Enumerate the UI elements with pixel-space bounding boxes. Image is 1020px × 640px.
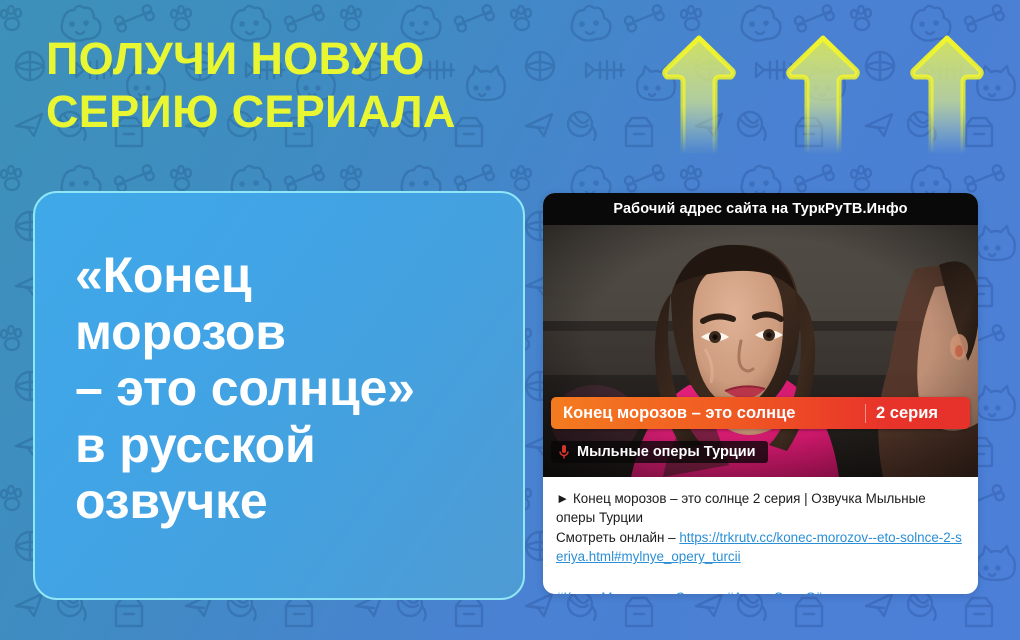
play-glyph: ► [556, 491, 569, 506]
video-thumbnail[interactable]: Конец морозов – это солнце 2 серия Мыльн… [543, 225, 978, 477]
watch-online-line: Смотреть онлайн – https://trkrutv.cc/kon… [556, 528, 965, 566]
series-title: «Конец морозов – это солнце» в русской о… [75, 247, 505, 530]
arrow-up-icon [665, 38, 734, 154]
episode-title-bar: Конец морозов – это солнце 2 серия [551, 397, 970, 429]
post-title-text: Конец морозов – это солнце 2 серия | Озв… [556, 491, 926, 525]
post-title: ► Конец морозов – это солнце 2 серия | О… [556, 489, 965, 527]
channel-badge: Мыльные оперы Турции [551, 441, 768, 463]
episode-number: 2 серия [866, 404, 970, 423]
site-address-banner: Рабочий адрес сайта на ТуркРуТВ.Инфо [543, 193, 978, 225]
arrow-up-icon [789, 38, 858, 154]
page-headline: ПОЛУЧИ НОВУЮ СЕРИЮ СЕРИАЛА [46, 33, 586, 138]
episode-series-title: Конец морозов – это солнце [563, 404, 795, 423]
watch-online-label: Смотреть онлайн – [556, 530, 679, 545]
microphone-icon [558, 444, 570, 460]
arrows-group [655, 28, 995, 163]
thumbnail-photo [543, 225, 978, 477]
channel-name: Мыльные оперы Турции [577, 444, 756, 460]
post-hashtags[interactable]: #КонецМорозовэтоСолнце #AyazınSonuGüneş [556, 588, 965, 594]
post-body: ► Конец морозов – это солнце 2 серия | О… [543, 477, 978, 594]
series-title-card: «Конец морозов – это солнце» в русской о… [33, 191, 525, 600]
arrow-up-icon [913, 38, 982, 154]
social-post-card[interactable]: Рабочий адрес сайта на ТуркРуТВ.Инфо [543, 193, 978, 594]
